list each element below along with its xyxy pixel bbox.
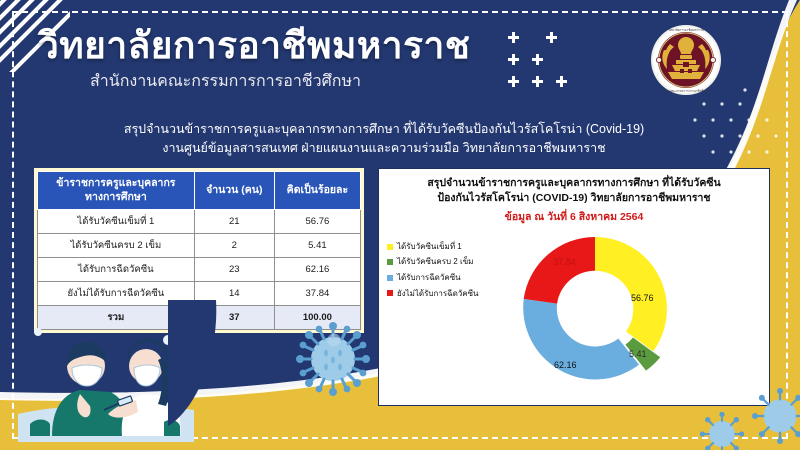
plus-sign [508,76,519,87]
row-percent: 56.76 [274,210,360,234]
college-seal-icon: วิทยาลัยการอาชีพมหาราช สนง.คณะกรรมการการ… [650,24,722,96]
row-percent: 5.41 [274,234,360,258]
plus-sign [532,76,543,87]
legend-item: ได้รับการฉีดวัคซีน [387,270,479,286]
poster-header: วิทยาลัยการอาชีพมหาราช สำนักงานคณะกรรมกา… [38,26,508,94]
table-header-count: จำนวน (คน) [194,172,274,210]
legend-item: ได้รับวัคซีนครบ 2 เข็ม [387,254,479,270]
legend-swatch-dose1 [387,244,393,250]
row-percent: 37.84 [274,282,360,306]
svg-text:สนง.คณะกรรมการการอาชีวศึกษา: สนง.คณะกรรมการการอาชีวศึกษา [663,89,709,93]
table-header-percent: คิดเป็นร้อยละ [274,172,360,210]
table-row: ได้รับวัคซีนครบ 2 เข็ม 2 5.41 [38,234,361,258]
doughnut-svg [511,227,683,391]
slice-vaccinated [523,299,639,380]
row-percent: 62.16 [274,258,360,282]
legend-label: ได้รับการฉีดวัคซีน [397,270,461,286]
data-label-full-dose: 5.41 [629,349,647,359]
chart-legend: ได้รับวัคซีนเข็มที่ 1 ได้รับวัคซีนครบ 2 … [387,239,479,301]
college-name: วิทยาลัยการอาชีพมหาราช [38,26,508,65]
plus-sign [532,54,543,65]
legend-swatch-not-vaccinated [387,290,393,296]
table-row: ได้รับการฉีดวัคซีน 23 62.16 [38,258,361,282]
subtitle-line-1: สรุปจำนวนข้าราชการครูและบุคลากรทางการศึก… [104,120,664,139]
plus-sign-group [498,32,572,94]
subtitle-line-2: งานศูนย์ข้อมูลสารสนเทศ ฝ่ายแผนงานและความ… [104,139,664,158]
navy-accent-shape [168,300,228,428]
row-label: ได้รับวัคซีนเข็มที่ 1 [38,210,195,234]
legend-label: ได้รับวัคซีนเข็มที่ 1 [397,239,462,255]
row-count: 2 [194,234,274,258]
plus-sign [546,32,557,43]
subtitle-band: สรุปจำนวนข้าราชการครูและบุคลากรทางการศึก… [104,120,664,158]
office-name: สำนักงานคณะกรรมการการอาชีวศึกษา [90,69,508,94]
legend-label: ยังไม่ได้รับการฉีดวัคซีน [397,286,479,302]
row-count: 23 [194,258,274,282]
chart-title-line-2: ป้องกันไวรัสโคโรน่า (COVID-19) วิทยาลัยก… [389,191,759,206]
row-label: ได้รับการฉีดวัคซีน [38,258,195,282]
chart-date-subtitle: ข้อมูล ณ วันที่ 6 สิงหาคม 2564 [379,208,769,225]
row-label: ได้รับวัคซีนครบ 2 เข็ม [38,234,195,258]
row-count: 21 [194,210,274,234]
data-label-vaccinated: 62.16 [554,360,577,370]
chart-title: สรุปจำนวนข้าราชการครูและบุคลากรทางการศึก… [389,176,759,206]
plus-sign [508,32,519,43]
legend-swatch-full [387,259,393,265]
plus-sign [508,54,519,65]
doughnut-chart-card: สรุปจำนวนข้าราชการครูและบุคลากรทางการศึก… [378,168,770,406]
legend-label: ได้รับวัคซีนครบ 2 เข็ม [397,254,473,270]
coronavirus-particle [700,412,744,450]
data-label-dose1: 56.76 [631,293,654,303]
legend-swatch-vaccinated [387,275,393,281]
plus-sign [556,76,567,87]
table-header-row: ข้าราชการครูและบุคลากร ทางการศึกษา จำนวน… [38,172,361,210]
svg-text:วิทยาลัยการอาชีพมหาราช: วิทยาลัยการอาชีพมหาราช [668,28,704,32]
data-label-not-vaccinated: 37.84 [553,257,576,267]
chart-title-line-1: สรุปจำนวนข้าราชการครูและบุคลากรทางการศึก… [389,176,759,191]
slice-not-vaccinated [524,237,595,304]
poster-canvas: วิทยาลัยการอาชีพมหาราช สำนักงานคณะกรรมกา… [0,0,800,450]
legend-item: ยังไม่ได้รับการฉีดวัคซีน [387,286,479,302]
doughnut-graphic: 56.76 5.41 62.16 37.84 [511,227,683,391]
coronavirus-particle [752,388,800,444]
chart-plot-area: ได้รับวัคซีนเข็มที่ 1 ได้รับวัคซีนครบ 2 … [379,225,769,393]
table-header-category: ข้าราชการครูและบุคลากร ทางการศึกษา [38,172,195,210]
coronavirus-particle [324,330,344,350]
table-row: ได้รับวัคซีนเข็มที่ 1 21 56.76 [38,210,361,234]
legend-item: ได้รับวัคซีนเข็มที่ 1 [387,239,479,255]
